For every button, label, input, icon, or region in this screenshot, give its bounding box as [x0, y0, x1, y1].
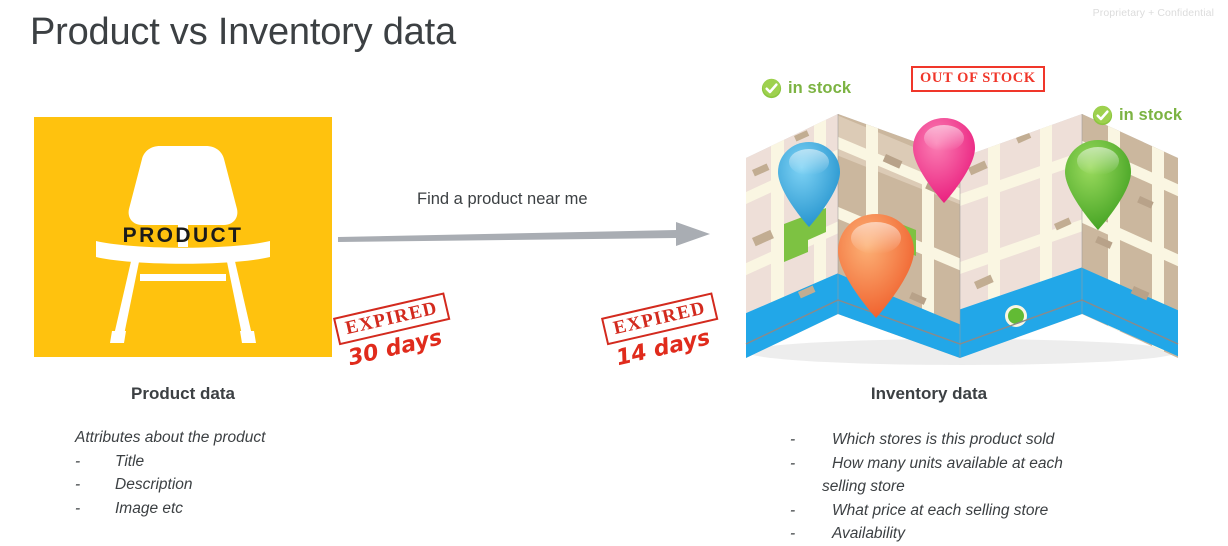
slide-canvas: Proprietary + Confidential Product vs In…	[0, 0, 1228, 540]
product-data-caption: Product data	[34, 384, 332, 404]
confidentiality-notice: Proprietary + Confidential	[1093, 7, 1214, 19]
list-item: - Description	[75, 473, 405, 497]
bullet-text: Description	[115, 473, 405, 497]
product-data-bullets: Attributes about the product - Title - D…	[75, 426, 405, 520]
check-circle-icon	[1092, 105, 1113, 126]
bullet-dash: -	[75, 497, 115, 521]
bullet-dash: -	[790, 499, 832, 523]
list-item: - Image etc	[75, 497, 405, 521]
status-badge-label: in stock	[788, 79, 851, 98]
bullet-dash: -	[75, 473, 115, 497]
page-title: Product vs Inventory data	[30, 11, 456, 54]
out-of-stock-stamp: OUT OF STOCK	[911, 66, 1045, 92]
arrow-label: Find a product near me	[417, 190, 588, 209]
status-badge-in-stock-right: in stock	[1092, 105, 1182, 126]
product-bullets-lead: Attributes about the product	[75, 426, 405, 450]
list-item: - How many units available at each	[790, 452, 1130, 476]
arrow-right-icon	[338, 218, 710, 250]
status-badge-in-stock-left: in stock	[761, 78, 851, 99]
check-circle-icon	[761, 78, 782, 99]
bullet-dash: -	[790, 428, 832, 452]
status-badge-label: in stock	[1119, 106, 1182, 125]
bullet-text: Image etc	[115, 497, 405, 521]
expired-stamp-30-days: EXPIRED 30 days	[333, 292, 457, 372]
product-image-label: PRODUCT	[34, 224, 332, 248]
bullet-text: Title	[115, 450, 405, 474]
bullet-text: selling store	[822, 475, 1130, 499]
bullet-dash: -	[790, 522, 832, 546]
bullet-text: What price at each selling store	[832, 499, 1130, 523]
bullet-text: How many units available at each	[832, 452, 1130, 476]
bullet-dash: -	[75, 450, 115, 474]
inventory-data-bullets: - Which stores is this product sold - Ho…	[790, 428, 1130, 546]
folded-map-graphic	[716, 96, 1206, 371]
product-image-card: PRODUCT	[34, 117, 332, 357]
inventory-data-caption: Inventory data	[780, 384, 1078, 404]
folded-map-icon	[716, 96, 1206, 371]
list-item: - What price at each selling store	[790, 499, 1130, 523]
list-item: - Availability	[790, 522, 1130, 546]
list-item-continuation: selling store	[790, 475, 1130, 499]
expired-stamp-14-days: EXPIRED 14 days	[601, 292, 725, 372]
bullet-text: Availability	[832, 522, 1130, 546]
bullet-text: Which stores is this product sold	[832, 428, 1130, 452]
list-item: - Title	[75, 450, 405, 474]
bullet-dash: -	[790, 452, 832, 476]
list-item: - Which stores is this product sold	[790, 428, 1130, 452]
